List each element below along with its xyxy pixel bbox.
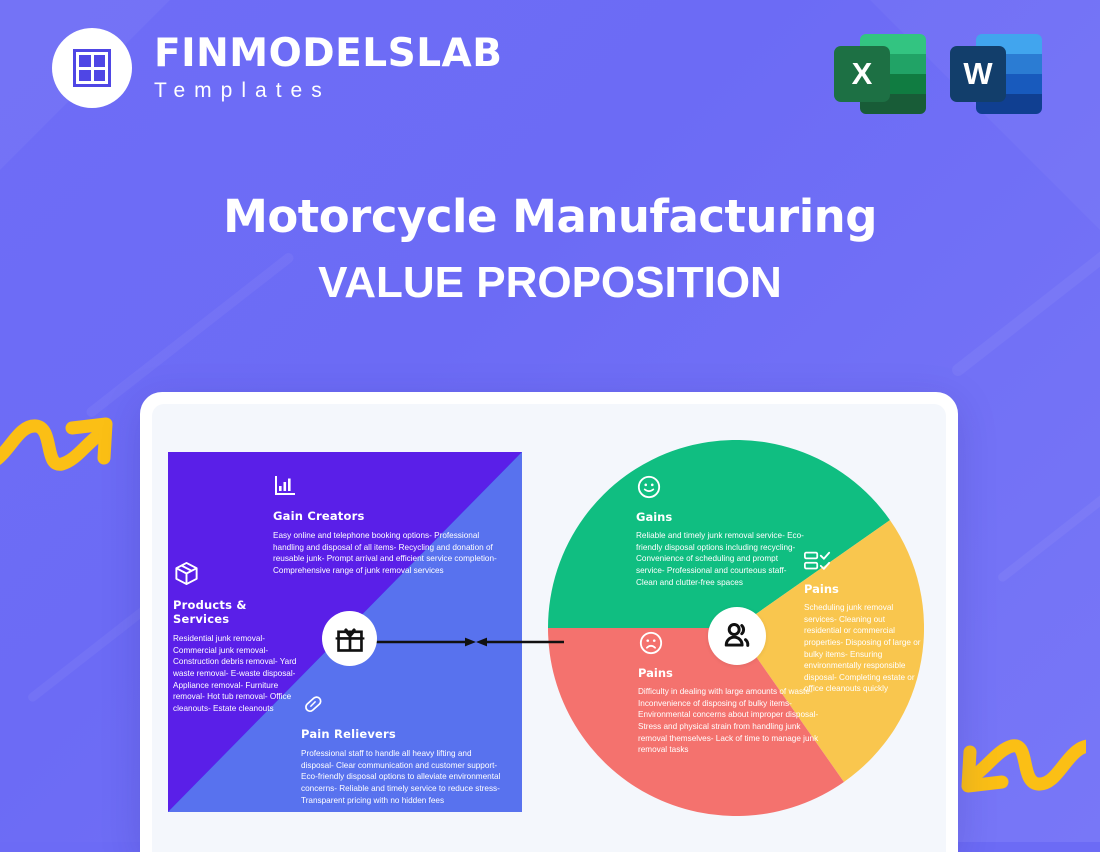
checklist-icon [804,550,834,572]
pains-body: Difficulty in dealing with large amounts… [638,686,826,756]
gain-creators-body: Easy online and telephone booking option… [273,530,501,577]
customer-jobs-heading: Pains [804,582,924,596]
users-people-icon [720,619,754,653]
block-products-services[interactable]: Products & Services Residential junk rem… [173,560,301,714]
title-block: Motorcycle Manufacturing VALUE PROPOSITI… [0,190,1100,308]
excel-icon[interactable]: X [834,28,926,120]
smiley-sad-icon [638,630,664,656]
gains-body: Reliable and timely junk removal service… [636,530,806,588]
squiggly-arrow-up-right-icon [0,402,128,512]
page-subtitle: VALUE PROPOSITION [0,258,1100,308]
smiley-happy-icon [636,474,662,500]
excel-icon-letter: X [834,46,890,102]
brand-name: FINMODELSLAB [154,34,502,73]
brand-subtitle: Templates [154,79,502,103]
page-title: Motorcycle Manufacturing [0,190,1100,243]
gift-box-icon [334,623,366,655]
pains-heading: Pains [638,666,826,680]
bar-chart-icon [273,474,297,498]
pain-relievers-body: Professional staff to handle all heavy l… [301,748,501,806]
squiggly-arrow-down-left-icon [946,712,1086,822]
customer-profile-chart: Gains Reliable and timely junk removal s… [540,422,940,834]
word-icon[interactable]: W [950,28,1042,120]
double-headed-arrow-icon [372,636,566,648]
value-map-hub[interactable] [322,611,377,666]
block-gain-creators[interactable]: Gain Creators Easy online and telephone … [273,474,501,577]
template-canvas: Gain Creators Easy online and telephone … [152,404,946,852]
products-services-heading: Products & Services [173,598,301,626]
page-header: FINMODELSLAB Templates X W [0,0,1100,150]
brand-logo[interactable]: FINMODELSLAB Templates [52,28,502,108]
customer-hub[interactable] [708,607,766,665]
template-preview-card: Gain Creators Easy online and telephone … [140,392,958,852]
word-icon-letter: W [950,46,1006,102]
grid-logo-icon [52,28,132,108]
block-pain-relievers[interactable]: Pain Relievers Professional staff to han… [301,692,501,806]
pill-capsule-icon [301,692,325,716]
products-services-body: Residential junk removal- Commercial jun… [173,633,301,714]
pain-relievers-heading: Pain Relievers [301,727,501,741]
label-gains[interactable]: Gains Reliable and timely junk removal s… [636,474,806,588]
package-box-icon [173,560,200,587]
office-format-icons: X W [834,28,1042,120]
gain-creators-heading: Gain Creators [273,509,501,523]
gains-heading: Gains [636,510,806,524]
